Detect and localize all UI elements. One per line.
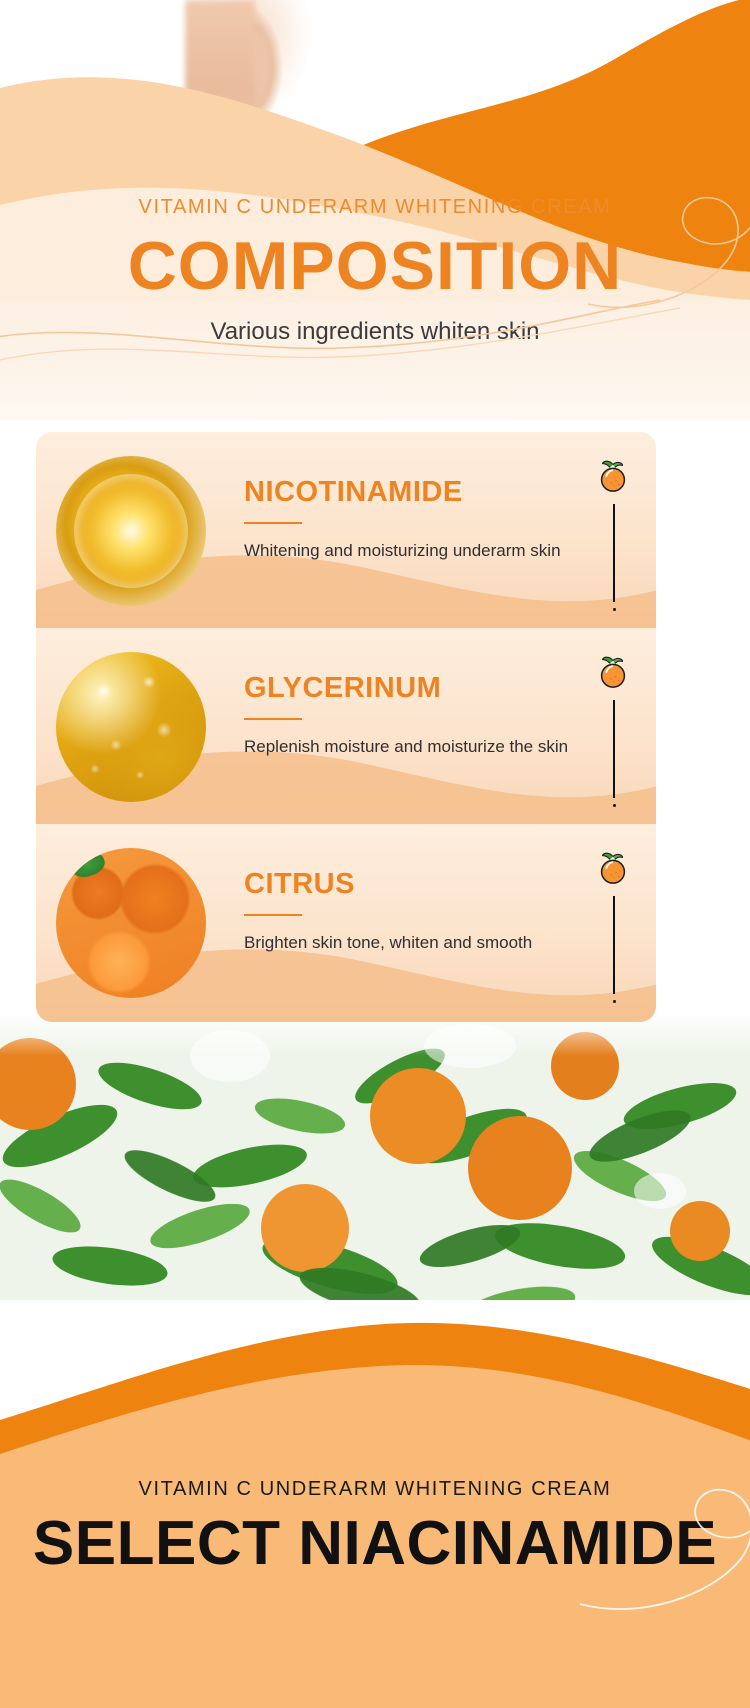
ingredient-divider bbox=[244, 522, 302, 524]
citrus-tree-photo bbox=[0, 1016, 750, 1326]
orange-fruit-icon bbox=[594, 456, 632, 494]
select-niacinamide-title-block: VITAMIN C UNDERARM WHITENING CREAM SELEC… bbox=[0, 1478, 750, 1576]
product-detail-page: VITAMIN C UNDERARM WHITENING CREAM COMPO… bbox=[0, 0, 750, 1708]
ingredient-description: Whitening and moisturizing underarm skin bbox=[244, 540, 624, 561]
ingredient-card-list: NICOTINAMIDE Whitening and moisturizing … bbox=[36, 432, 656, 1022]
ingredient-card[interactable]: CITRUS Brighten skin tone, whiten and sm… bbox=[36, 824, 656, 1022]
timeline-dot bbox=[613, 608, 616, 611]
timeline-dot bbox=[613, 1000, 616, 1003]
ingredient-description: Brighten skin tone, whiten and smooth bbox=[244, 932, 624, 953]
timeline-line bbox=[613, 896, 615, 994]
timeline-dot bbox=[613, 804, 616, 807]
tree-photo-fade bbox=[0, 1016, 750, 1056]
ingredient-divider bbox=[244, 914, 302, 916]
ingredient-text: NICOTINAMIDE Whitening and moisturizing … bbox=[244, 478, 624, 561]
ingredient-image bbox=[56, 652, 206, 802]
ingredient-text: CITRUS Brighten skin tone, whiten and sm… bbox=[244, 870, 624, 953]
decorative-squiggle-bottom-icon bbox=[570, 1464, 750, 1634]
orange-fruit-icon bbox=[594, 652, 632, 690]
ingredient-card[interactable]: GLYCERINUM Replenish moisture and moistu… bbox=[36, 628, 656, 824]
ingredient-image bbox=[56, 456, 206, 606]
ingredient-card[interactable]: NICOTINAMIDE Whitening and moisturizing … bbox=[36, 432, 656, 628]
ingredient-text: GLYCERINUM Replenish moisture and moistu… bbox=[244, 674, 624, 757]
ingredient-divider bbox=[244, 718, 302, 720]
decorative-squiggle-left-icon bbox=[0, 256, 720, 376]
ingredient-name: CITRUS bbox=[244, 870, 624, 899]
citrus-tree-foliage bbox=[0, 1016, 750, 1326]
ingredient-description: Replenish moisture and moisturize the sk… bbox=[244, 736, 624, 757]
ingredient-name: NICOTINAMIDE bbox=[244, 478, 624, 507]
timeline-line bbox=[613, 504, 615, 602]
orange-fruit-icon bbox=[594, 848, 632, 886]
ingredient-name: GLYCERINUM bbox=[244, 674, 624, 703]
timeline-line bbox=[613, 700, 615, 798]
composition-title-block: VITAMIN C UNDERARM WHITENING CREAM COMPO… bbox=[0, 196, 750, 346]
ingredient-image bbox=[56, 848, 206, 998]
